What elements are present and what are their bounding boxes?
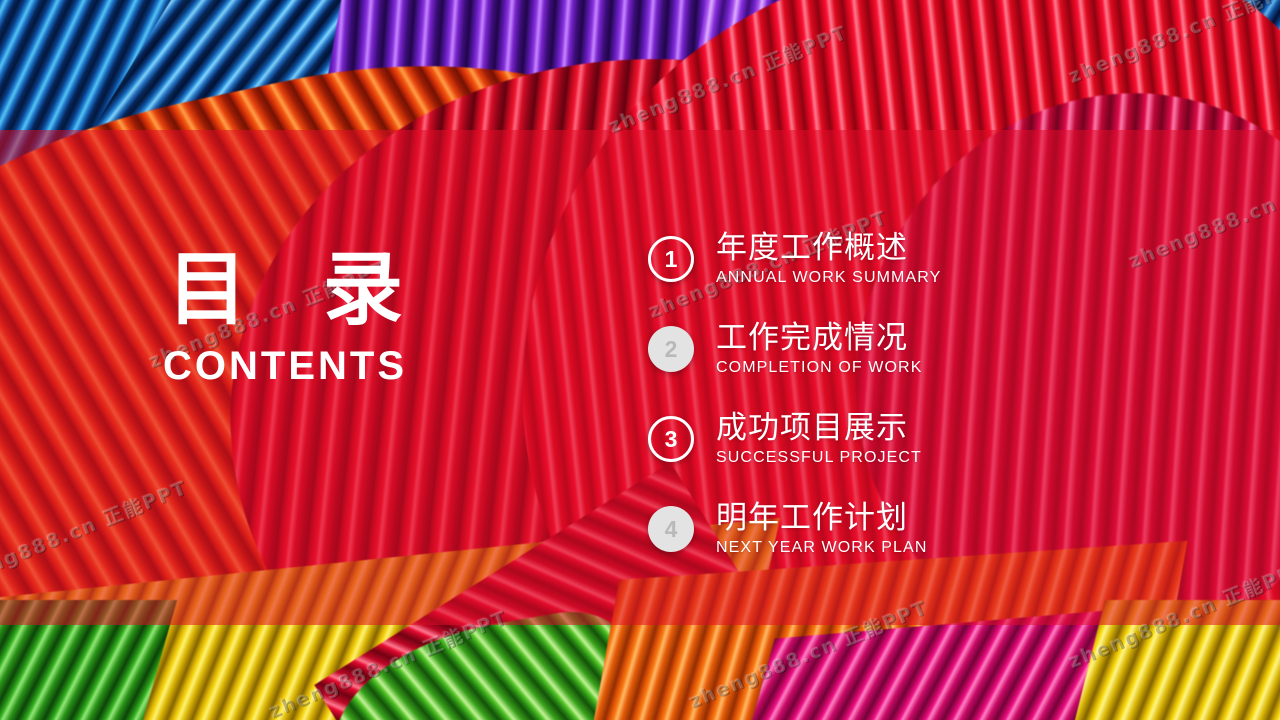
item-title-english: NEXT YEAR WORK PLAN [716,539,927,557]
item-text-block: 年度工作概述 ANNUAL WORK SUMMARY [716,231,941,287]
item-title-english: ANNUAL WORK SUMMARY [716,269,941,287]
item-title-english: COMPLETION OF WORK [716,359,922,377]
list-item[interactable]: 3 成功项目展示 SUCCESSFUL PROJECT [648,394,941,484]
list-item[interactable]: 4 明年工作计划 NEXT YEAR WORK PLAN [648,484,941,574]
item-number-badge: 2 [648,326,694,372]
item-title-chinese: 成功项目展示 [716,411,922,446]
item-text-block: 工作完成情况 COMPLETION OF WORK [716,321,922,377]
page-title: 目 录 CONTENTS [120,248,450,389]
item-title-chinese: 工作完成情况 [716,321,922,356]
page-title-chinese: 目 录 [120,248,450,332]
page-title-english: CONTENTS [120,344,450,389]
item-text-block: 明年工作计划 NEXT YEAR WORK PLAN [716,501,927,557]
item-title-english: SUCCESSFUL PROJECT [716,449,922,467]
item-title-chinese: 年度工作概述 [716,231,941,266]
item-number-badge: 1 [648,236,694,282]
slide-content: 目 录 CONTENTS 1 年度工作概述 ANNUAL WORK SUMMAR… [0,0,1280,720]
list-item[interactable]: 2 工作完成情况 COMPLETION OF WORK [648,304,941,394]
presentation-slide: zheng888.cn 正能PPT zheng888.cn 正能PPT zhen… [0,0,1280,720]
item-number-badge: 3 [648,416,694,462]
item-title-chinese: 明年工作计划 [716,501,927,536]
list-item[interactable]: 1 年度工作概述 ANNUAL WORK SUMMARY [648,214,941,304]
item-number-badge: 4 [648,506,694,552]
item-text-block: 成功项目展示 SUCCESSFUL PROJECT [716,411,922,467]
table-of-contents-list: 1 年度工作概述 ANNUAL WORK SUMMARY 2 工作完成情况 CO… [648,214,941,574]
